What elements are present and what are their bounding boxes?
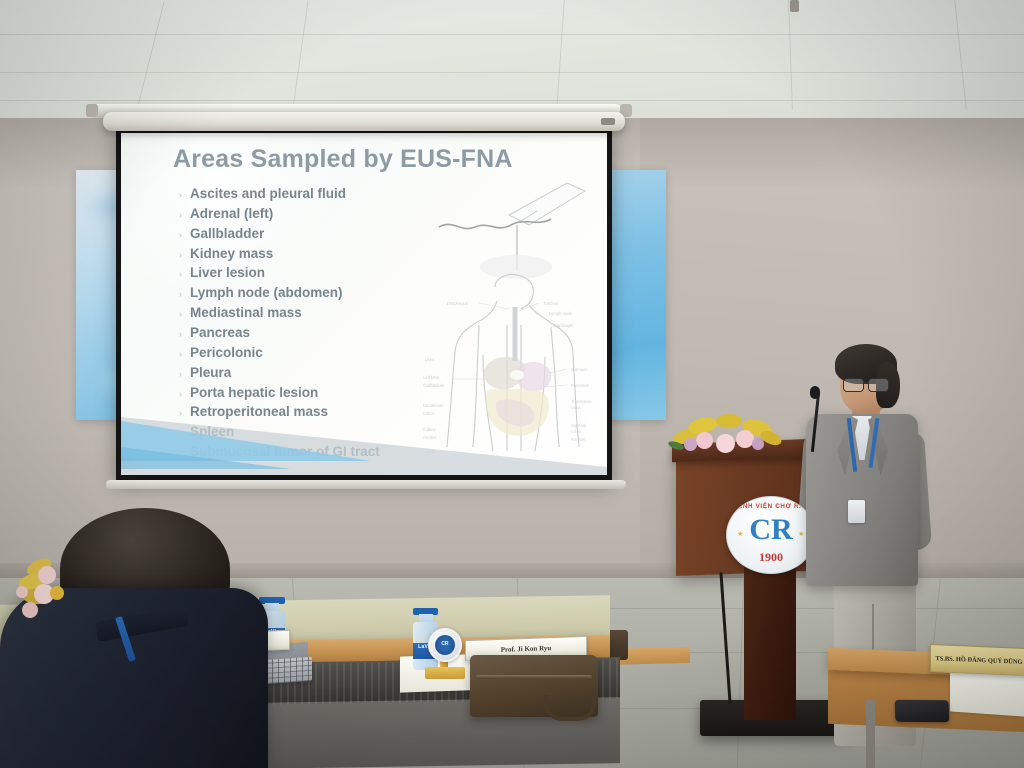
projector-screen-bottom-bar	[106, 480, 626, 489]
attendee-flowers	[16, 556, 96, 622]
svg-text:Stomach: Stomach	[571, 367, 588, 372]
briefcase-handle	[544, 695, 596, 721]
glasses-icon-bridge	[863, 382, 869, 384]
svg-text:Diaphragm: Diaphragm	[553, 323, 574, 328]
slide-footer-accent	[121, 417, 607, 475]
nameplate-right: TS.BS. HỒ ĐĂNG QUÝ DŨNG	[930, 644, 1024, 676]
bullet-label: Mediastinal mass	[190, 304, 302, 321]
bullet-marker-icon: ›	[179, 390, 190, 399]
documents-right	[950, 669, 1024, 716]
bullet-marker-icon: ›	[179, 211, 190, 220]
speaker-badge	[848, 500, 865, 523]
nameplate-right-text: TS.BS. HỒ ĐĂNG QUÝ DŨNG	[936, 655, 1023, 666]
projection-screen: Areas Sampled by EUS-FNA ›Ascites and pl…	[116, 128, 612, 480]
glasses-icon-left-lens	[843, 378, 864, 392]
slide-bullet-item: ›Pleura	[179, 364, 439, 381]
commemorative-medal: CR	[428, 628, 462, 662]
right-table-leg	[866, 700, 875, 768]
slide-bullet-item: ›Lymph node (abdomen)	[179, 284, 439, 301]
svg-text:Gallbladder: Gallbladder	[423, 383, 445, 388]
mobile-phone	[895, 700, 950, 722]
bullet-marker-icon: ›	[179, 251, 190, 260]
slide-bullet-item: ›Porta hepatic lesion	[179, 384, 439, 401]
bullet-label: Kidney mass	[190, 245, 273, 262]
bullet-label: Adrenal (left)	[190, 205, 273, 222]
slide-bullet-item: ›Liver lesion	[179, 264, 439, 281]
bullet-label: Pancreas	[190, 324, 250, 341]
svg-text:Esophagus: Esophagus	[447, 301, 468, 306]
slide-bullet-item: ›Ascites and pleural fluid	[179, 185, 439, 202]
slide-bullet-item: ›Pericolonic	[179, 344, 439, 361]
briefcase	[470, 655, 598, 717]
projector-screen-housing	[103, 112, 625, 131]
podium-flower-arrangement	[668, 412, 784, 452]
nameplate-center-text: Prof. Ji Kon Ryu	[501, 644, 552, 654]
svg-text:colon: colon	[571, 405, 582, 410]
slide-bullet-item: ›Mediastinal mass	[179, 304, 439, 321]
svg-text:Pancreas: Pancreas	[571, 383, 589, 388]
bullet-label: Liver lesion	[190, 264, 265, 281]
bullet-marker-icon: ›	[179, 310, 190, 319]
svg-text:Duodenum: Duodenum	[423, 403, 444, 408]
conference-photo-scene: L AO A rse Areas Sampled by EUS-FNA ›Asc…	[0, 0, 1024, 768]
bullet-marker-icon: ›	[179, 330, 190, 339]
svg-text:Transverse: Transverse	[571, 399, 592, 404]
slide-bullet-item: ›Pancreas	[179, 324, 439, 341]
ceiling	[0, 0, 1024, 120]
screen-roller-button[interactable]	[601, 118, 615, 125]
svg-text:Trachea: Trachea	[543, 301, 559, 306]
bullet-marker-icon: ›	[179, 270, 190, 279]
ceiling-light-cap-left	[86, 104, 98, 117]
bullet-label: Ascites and pleural fluid	[190, 185, 346, 202]
podium-column	[744, 560, 796, 720]
hospital-crest-logo: BỆNH VIỆN CHỢ RẪY ★ ★ CR 1900	[726, 496, 816, 574]
svg-text:Colon: Colon	[423, 411, 435, 416]
bullet-marker-icon: ›	[179, 370, 190, 379]
medal-stand-base	[425, 667, 465, 679]
logo-monogram: CR	[727, 515, 815, 545]
svg-text:Lymph node: Lymph node	[549, 311, 573, 316]
bullet-label: Porta hepatic lesion	[190, 384, 318, 401]
presentation-slide: Areas Sampled by EUS-FNA ›Ascites and pl…	[121, 133, 607, 475]
bullet-marker-icon: ›	[179, 191, 190, 200]
bullet-marker-icon: ›	[179, 290, 190, 299]
glasses-icon-right-lens	[868, 378, 889, 392]
bullet-label: Pericolonic	[190, 344, 263, 361]
hospital-name-arc: BỆNH VIỆN CHỢ RẪY	[727, 503, 815, 510]
briefcase-seam	[476, 675, 592, 679]
slide-bullet-item: ›Adrenal (left)	[179, 205, 439, 222]
svg-text:Liver: Liver	[425, 357, 435, 362]
svg-text:Left lobe: Left lobe	[423, 375, 440, 380]
slide-bullet-item: ›Kidney mass	[179, 245, 439, 262]
logo-year: 1900	[727, 550, 815, 565]
medal-text: CR	[435, 641, 455, 647]
bullet-marker-icon: ›	[179, 231, 190, 240]
bullet-marker-icon: ›	[179, 350, 190, 359]
bullet-label: Lymph node (abdomen)	[190, 284, 343, 301]
microphone-icon	[810, 386, 820, 399]
slide-bullet-item: ›Gallbladder	[179, 225, 439, 242]
slide-title: Areas Sampled by EUS-FNA	[173, 145, 513, 174]
medal-center: CR	[435, 635, 455, 655]
bullet-label: Pleura	[190, 364, 231, 381]
ceiling-fixture-icon	[790, 0, 799, 12]
bullet-label: Gallbladder	[190, 225, 264, 242]
